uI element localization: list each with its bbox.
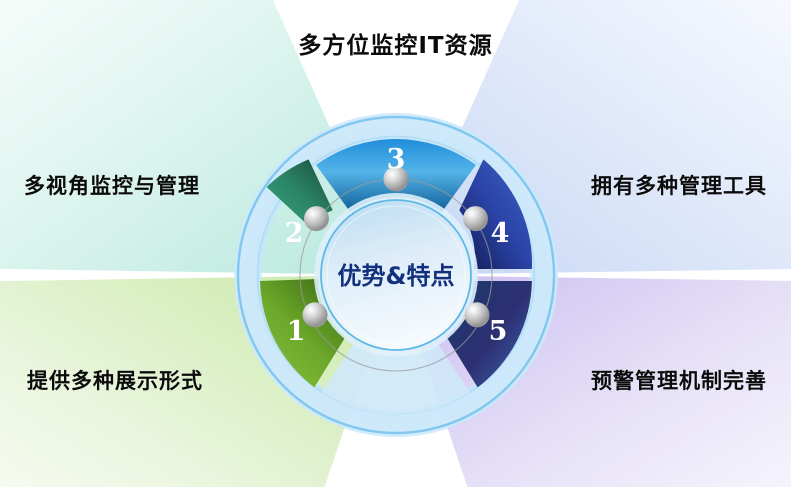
sphere-5 (465, 302, 490, 327)
segment-number-5: 5 (489, 316, 508, 347)
infographic-canvas: 优势&特点 3 2 1 4 5 多方位监控IT资源 多视角监控与管理 提供多种展… (0, 0, 791, 487)
label-right-bottom: 预警管理机制完善 (591, 365, 767, 395)
sphere-4 (463, 206, 488, 231)
label-right-top: 拥有多种管理工具 (591, 170, 767, 200)
segment-number-2: 2 (285, 218, 304, 249)
segmented-wheel: 优势&特点 3 2 1 4 5 (0, 0, 791, 487)
sphere-1 (303, 302, 328, 327)
label-left-bottom: 提供多种展示形式 (27, 365, 203, 395)
sphere-2 (304, 206, 329, 231)
segment-number-1: 1 (287, 316, 306, 347)
center-label: 优势&特点 (338, 262, 455, 290)
segment-number-3: 3 (387, 144, 406, 175)
diagram-title: 多方位监控IT资源 (298, 26, 492, 60)
segment-number-4: 4 (491, 218, 510, 249)
label-left-top: 多视角监控与管理 (24, 170, 200, 200)
